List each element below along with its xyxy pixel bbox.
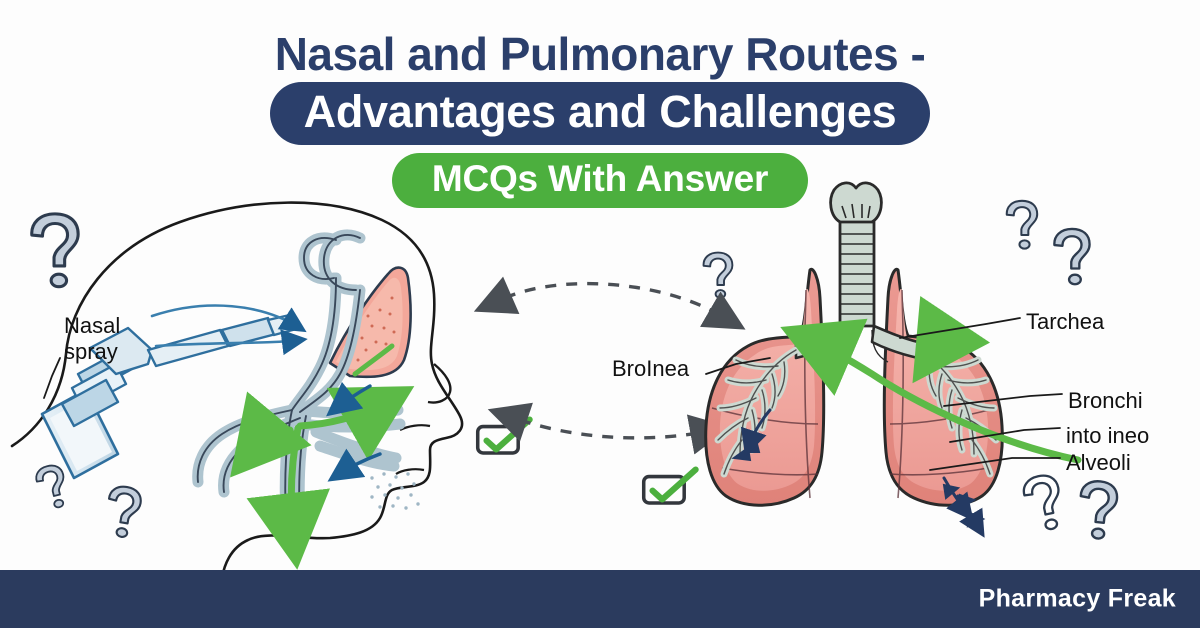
page-title-line1: Nasal and Pulmonary Routes - bbox=[0, 28, 1200, 80]
question-mark-icon bbox=[1076, 480, 1118, 541]
dashed-double-arrow-icon bbox=[505, 284, 722, 316]
illustration-area bbox=[0, 178, 1200, 578]
question-mark-icon bbox=[704, 253, 733, 298]
label-into-ineo: into ineo bbox=[1066, 423, 1149, 449]
check-box-icon bbox=[644, 470, 696, 503]
label-alveoli: Alveoli bbox=[1066, 450, 1131, 476]
check-box-icon bbox=[478, 420, 530, 453]
question-mark-icon bbox=[1021, 473, 1066, 533]
label-tarchea: Tarchea bbox=[1026, 309, 1104, 335]
title-block: Nasal and Pulmonary Routes - Advantages … bbox=[0, 28, 1200, 208]
dashed-double-arrow-icon bbox=[520, 420, 704, 438]
title-pill-row-green: MCQs With Answer bbox=[0, 147, 1200, 208]
label-nasal-spray: Nasal spray bbox=[64, 313, 174, 365]
question-mark-icon bbox=[1054, 229, 1089, 284]
title-pill-row-navy: Advantages and Challenges bbox=[0, 82, 1200, 145]
footer-bar: Pharmacy Freak bbox=[0, 570, 1200, 628]
brand-name: Pharmacy Freak bbox=[979, 585, 1176, 614]
question-mark-icon bbox=[34, 463, 71, 511]
question-mark-icon bbox=[103, 484, 143, 539]
page-title-line2: Advantages and Challenges bbox=[270, 82, 931, 145]
label-bronchi: Bronchi bbox=[1068, 388, 1143, 414]
page-subtitle-badge: MCQs With Answer bbox=[392, 153, 808, 208]
question-mark-icon bbox=[32, 214, 78, 287]
aerosol-speckles bbox=[370, 472, 419, 509]
poster-canvas: Nasal and Pulmonary Routes - Advantages … bbox=[0, 0, 1200, 628]
label-brolnea: BroInea bbox=[612, 356, 689, 382]
